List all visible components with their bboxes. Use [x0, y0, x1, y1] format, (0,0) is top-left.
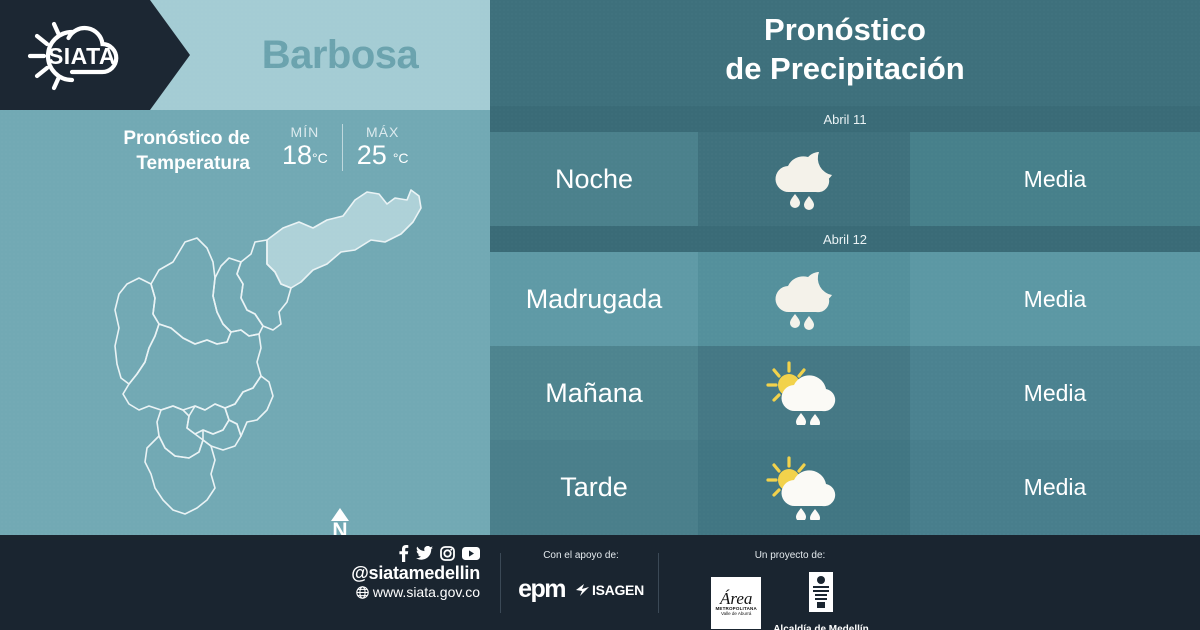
instagram-icon[interactable] — [440, 546, 455, 561]
isagen-logo: ISAGEN — [575, 582, 644, 598]
forecast-probability: Media — [910, 346, 1200, 440]
forecast-period-label: Madrugada — [490, 252, 698, 346]
forecast-probability: Media — [910, 440, 1200, 535]
facebook-icon[interactable] — [398, 545, 409, 562]
social-block: @siatamedellin www.siata.gov.co — [335, 545, 480, 600]
globe-icon — [356, 586, 369, 599]
aburra-valley-map: N — [55, 178, 455, 528]
project-logos: Área METROPOLITANA Valle de Aburrá — [700, 571, 880, 630]
temperature-min-value-group: 18°C — [282, 140, 328, 171]
temperature-min: MÍN 18°C — [268, 124, 342, 171]
left-panel: SIATA Barbosa Pronóstico de Temperatura … — [0, 0, 490, 535]
support-logos: epm ISAGEN — [506, 575, 656, 604]
alcaldia-medellin-logo: Alcaldía de Medellín — [773, 571, 869, 630]
social-handle[interactable]: @siatamedellin — [335, 563, 480, 584]
map-region-barbosa — [267, 190, 421, 288]
area-metropolitana-logo: Área METROPOLITANA Valle de Aburrá — [711, 577, 761, 629]
isagen-mark-icon — [575, 583, 590, 597]
footer-divider-1 — [500, 553, 501, 613]
moon-cloud-rain-icon — [698, 132, 910, 226]
forecast-period-label: Noche — [490, 132, 698, 226]
siata-logo-badge: SIATA — [0, 0, 190, 110]
forecast-period-label: Tarde — [490, 440, 698, 535]
infographic-root: SIATA Barbosa Pronóstico de Temperatura … — [0, 0, 1200, 630]
forecast-row-noche: Noche Media — [490, 132, 1200, 226]
amva-signature: Área — [720, 591, 752, 606]
temperature-max: MÁX 25°C — [342, 124, 423, 171]
temperature-block: Pronóstico de Temperatura MÍN 18°C MÁX 2… — [60, 122, 460, 186]
map-svg — [55, 178, 455, 528]
support-block: Con el apoyo de: epm ISAGEN — [506, 550, 656, 604]
forecast-row-madrugada: Madrugada Media — [490, 252, 1200, 346]
city-title: Barbosa — [190, 0, 490, 110]
date-banner-first: Abril 11 — [490, 106, 1200, 132]
forecast-row-manana: Mañana Media — [490, 346, 1200, 440]
temperature-max-value: 25 — [357, 140, 387, 170]
temperature-values: MÍN 18°C MÁX 25°C — [268, 122, 423, 171]
date-banner-second: Abril 12 — [490, 226, 1200, 252]
forecast-row-tarde: Tarde Media — [490, 440, 1200, 535]
project-caption: Un proyecto de: — [700, 550, 880, 561]
precipitation-title-line1: Pronóstico — [490, 10, 1200, 49]
alcaldia-crest-icon — [806, 571, 836, 616]
footer-divider-2 — [658, 553, 659, 613]
footer: @siatamedellin www.siata.gov.co Con el a… — [0, 535, 1200, 630]
website-url: www.siata.gov.co — [373, 584, 480, 600]
isagen-wordmark: ISAGEN — [592, 582, 644, 598]
siata-logo-icon: SIATA — [10, 12, 140, 100]
support-caption: Con el apoyo de: — [506, 550, 656, 561]
temperature-min-label: MÍN — [282, 124, 328, 140]
forecast-probability: Media — [910, 132, 1200, 226]
sun-cloud-rain-icon — [698, 346, 910, 440]
alcaldia-name: Alcaldía de Medellín — [773, 624, 869, 630]
website-row[interactable]: www.siata.gov.co — [335, 584, 480, 600]
temperature-title-line2: Temperatura — [60, 151, 250, 176]
temperature-max-label: MÁX — [357, 124, 409, 140]
temperature-title-line1: Pronóstico de — [123, 128, 250, 149]
temperature-min-unit: °C — [312, 150, 328, 166]
right-panel: Pronóstico de Precipitación Abril 11 Noc… — [490, 0, 1200, 535]
moon-cloud-rain-icon — [698, 252, 910, 346]
forecast-probability: Media — [910, 252, 1200, 346]
sun-cloud-rain-icon — [698, 440, 910, 535]
temperature-max-unit: °C — [393, 150, 409, 166]
temperature-title: Pronóstico de Temperatura — [60, 122, 250, 176]
amva-line2: Valle de Aburrá — [721, 611, 751, 616]
epm-logo: epm — [518, 575, 565, 604]
social-icons — [335, 545, 480, 562]
temperature-min-value: 18 — [282, 140, 312, 170]
precipitation-title-line2: de Precipitación — [490, 49, 1200, 88]
temperature-max-value-group: 25°C — [357, 140, 409, 171]
forecast-period-label: Mañana — [490, 346, 698, 440]
twitter-icon[interactable] — [416, 546, 433, 561]
project-block: Un proyecto de: Área METROPOLITANA Valle… — [700, 550, 880, 630]
youtube-icon[interactable] — [462, 547, 480, 560]
siata-logo-text: SIATA — [48, 43, 116, 69]
precipitation-title: Pronóstico de Precipitación — [490, 10, 1200, 88]
